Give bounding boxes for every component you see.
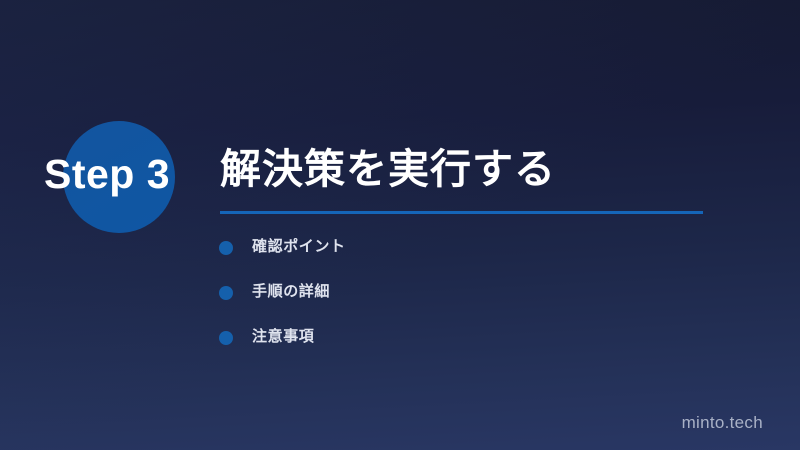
list-item-label: 注意事項	[252, 326, 314, 347]
list-item-label: 確認ポイント	[252, 236, 346, 257]
list-item: 手順の詳細	[219, 281, 689, 326]
footer-brand-text: minto.tech	[682, 413, 763, 433]
bullet-dot-icon	[219, 241, 233, 255]
bullet-dot-icon	[219, 331, 233, 345]
step-badge-label: Step 3	[44, 150, 214, 198]
list-item-label: 手順の詳細	[252, 281, 330, 302]
list-item: 注意事項	[219, 326, 689, 371]
slide-title: 解決策を実行する	[220, 146, 556, 193]
bullet-dot-icon	[219, 286, 233, 300]
title-underline-rule	[220, 211, 703, 214]
bullet-list: 確認ポイント 手順の詳細 注意事項	[219, 236, 689, 371]
list-item: 確認ポイント	[219, 236, 689, 281]
presentation-slide: Step 3 解決策を実行する 確認ポイント 手順の詳細 注意事項 minto.…	[0, 0, 800, 450]
